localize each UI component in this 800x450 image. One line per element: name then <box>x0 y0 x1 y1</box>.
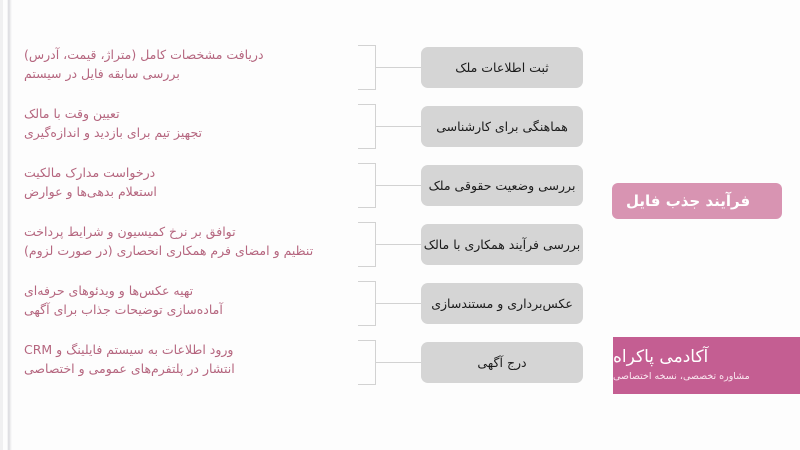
bracket-connector-icon <box>358 222 376 267</box>
process-step-box[interactable]: بررسی فرآیند همکاری با مالک <box>421 224 583 265</box>
process-row: توافق بر نرخ کمیسیون و شرایط پرداخت تنظی… <box>0 218 800 270</box>
description-line: تعیین وقت با مالک <box>24 104 354 123</box>
description-line: انتشار در پلتفرم‌های عمومی و اختصاصی <box>24 359 354 378</box>
diagram-canvas: دریافت مشخصات کامل (متراژ، قیمت، آدرس) ب… <box>0 0 800 450</box>
process-step-box[interactable]: عکس‌برداری و مستندسازی <box>421 283 583 324</box>
process-step-label: ثبت اطلاعات ملک <box>455 60 548 76</box>
process-step-label: بررسی فرآیند همکاری با مالک <box>424 237 581 253</box>
description-line: تهیه عکس‌ها و ویدئوهای حرفه‌ای <box>24 281 354 300</box>
description-line: استعلام بدهی‌ها و عوارض <box>24 182 354 201</box>
bracket-stub-bottom <box>358 325 376 326</box>
step-description: درخواست مدارک مالکیت استعلام بدهی‌ها و ع… <box>24 163 354 202</box>
bracket-stub-top <box>358 45 376 46</box>
process-step-label: بررسی وضعیت حقوقی ملک <box>429 178 576 194</box>
process-step-label: درج آگهی <box>477 355 526 371</box>
step-description: تهیه عکس‌ها و ویدئوهای حرفه‌ای آماده‌ساز… <box>24 281 354 320</box>
connector-line <box>375 303 421 304</box>
process-step-box[interactable]: درج آگهی <box>421 342 583 383</box>
connector-line <box>375 244 421 245</box>
description-line: ورود اطلاعات به سیستم فایلینگ و CRM <box>24 340 354 359</box>
step-description: ورود اطلاعات به سیستم فایلینگ و CRM انتش… <box>24 340 354 379</box>
connector-line <box>375 67 421 68</box>
description-line: بررسی سابقه فایل در سیستم <box>24 64 354 83</box>
description-line: آماده‌سازی توضیحات جذاب برای آگهی <box>24 300 354 319</box>
process-step-box[interactable]: ثبت اطلاعات ملک <box>421 47 583 88</box>
bracket-stub-top <box>358 163 376 164</box>
bracket-connector-icon <box>358 45 376 90</box>
bracket-stub-bottom <box>358 148 376 149</box>
bracket-stub-bottom <box>358 384 376 385</box>
step-description: دریافت مشخصات کامل (متراژ، قیمت، آدرس) ب… <box>24 45 354 84</box>
description-line: دریافت مشخصات کامل (متراژ، قیمت، آدرس) <box>24 45 354 64</box>
process-step-label: عکس‌برداری و مستندسازی <box>431 296 573 312</box>
diagram-title-label: فرآیند جذب فایل <box>626 192 750 210</box>
bracket-stub-bottom <box>358 207 376 208</box>
step-description: تعیین وقت با مالک تجهیز تیم برای بازدید … <box>24 104 354 143</box>
bracket-stub-top <box>358 340 376 341</box>
description-line: توافق بر نرخ کمیسیون و شرایط پرداخت <box>24 222 354 241</box>
connector-line <box>375 126 421 127</box>
brand-name: آکادمی پاکراه <box>613 347 708 368</box>
process-step-box[interactable]: بررسی وضعیت حقوقی ملک <box>421 165 583 206</box>
bracket-connector-icon <box>358 163 376 208</box>
process-step-label: هماهنگی برای کارشناسی <box>436 119 568 135</box>
step-description: توافق بر نرخ کمیسیون و شرایط پرداخت تنظی… <box>24 222 354 261</box>
bracket-stub-top <box>358 281 376 282</box>
bracket-stub-top <box>358 104 376 105</box>
bracket-stub-bottom <box>358 266 376 267</box>
brand-tagline: مشاوره تخصصی، نسخه اختصاصی <box>613 371 750 383</box>
process-row: تهیه عکس‌ها و ویدئوهای حرفه‌ای آماده‌ساز… <box>0 277 800 329</box>
bracket-stub-top <box>358 222 376 223</box>
description-line: تنظیم و امضای فرم همکاری انحصاری (در صور… <box>24 241 354 260</box>
description-line: تجهیز تیم برای بازدید و اندازه‌گیری <box>24 123 354 142</box>
process-row: تعیین وقت با مالک تجهیز تیم برای بازدید … <box>0 100 800 152</box>
bracket-connector-icon <box>358 104 376 149</box>
connector-line <box>375 185 421 186</box>
description-line: درخواست مدارک مالکیت <box>24 163 354 182</box>
brand-logo: آکادمی پاکراه مشاوره تخصصی، نسخه اختصاصی <box>613 337 800 394</box>
bracket-stub-bottom <box>358 89 376 90</box>
process-step-box[interactable]: هماهنگی برای کارشناسی <box>421 106 583 147</box>
bracket-connector-icon <box>358 281 376 326</box>
connector-line <box>375 362 421 363</box>
diagram-title-badge: فرآیند جذب فایل <box>612 183 782 219</box>
process-row: دریافت مشخصات کامل (متراژ، قیمت، آدرس) ب… <box>0 41 800 93</box>
bracket-connector-icon <box>358 340 376 385</box>
